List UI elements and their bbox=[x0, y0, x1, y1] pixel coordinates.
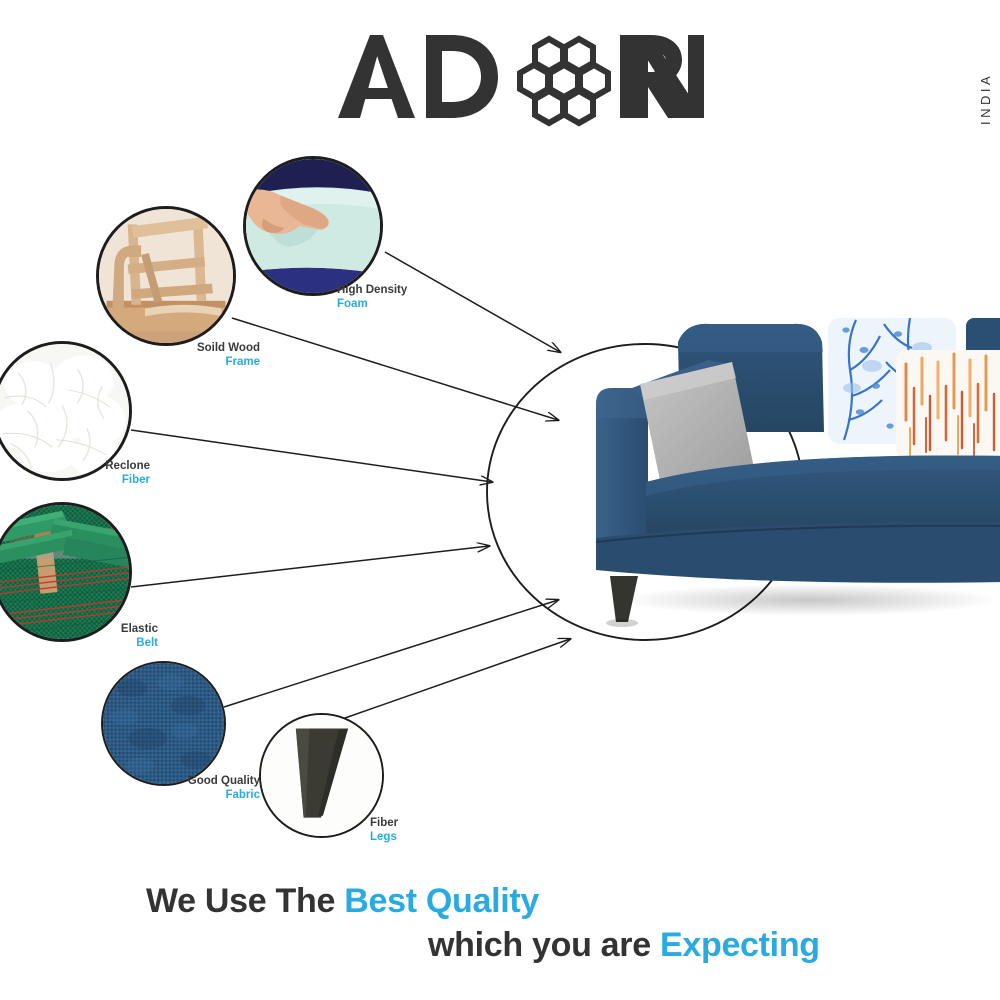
feature-label-line1: Good Quality bbox=[110, 774, 260, 788]
feature-label-line1: High Density bbox=[337, 283, 497, 297]
feature-label-solid-wood-frame: Soild Wood Frame bbox=[110, 341, 260, 369]
arrow-solid-wood-frame bbox=[232, 318, 558, 420]
feature-image-solid-wood-frame bbox=[96, 206, 236, 346]
tagline-line1-plain: We Use The bbox=[146, 882, 344, 920]
blue-fabric-swatch-photo bbox=[103, 663, 224, 784]
hand-pressing-foam-photo bbox=[246, 159, 380, 293]
tagline-line2-highlight: Expecting bbox=[660, 926, 820, 964]
feature-label-line1: Elastic bbox=[58, 622, 158, 636]
feature-label-line2: Belt bbox=[58, 636, 158, 650]
tagline-line1-highlight: Best Quality bbox=[344, 882, 539, 920]
feature-label-line2: Frame bbox=[110, 355, 260, 369]
feature-label-elastic-belt: Elastic Belt bbox=[58, 622, 158, 650]
tagline-line-2: which you are Expecting bbox=[428, 924, 820, 966]
arrow-good-quality-fabric bbox=[224, 600, 558, 707]
dark-tapered-sofa-leg-photo bbox=[261, 715, 382, 836]
tagline-line-1: We Use The Best Quality bbox=[146, 880, 539, 922]
arrow-fiber-legs bbox=[345, 639, 570, 718]
feature-image-fiber-legs bbox=[259, 713, 384, 838]
green-elastic-webbing-photo bbox=[0, 505, 129, 639]
feature-label-high-density-foam: High Density Foam bbox=[337, 283, 497, 311]
feature-label-good-quality-fabric: Good Quality Fabric bbox=[110, 774, 260, 802]
feature-label-reclone-fiber: Reclone Fiber bbox=[50, 459, 150, 487]
feature-image-good-quality-fabric bbox=[101, 661, 226, 786]
product-image-sofa bbox=[560, 300, 1000, 650]
navy-blue-sofa-photo bbox=[560, 300, 1000, 650]
feature-label-fiber-legs: Fiber Legs bbox=[370, 816, 470, 844]
tagline-line2-plain: which you are bbox=[428, 926, 660, 964]
feature-label-line2: Legs bbox=[370, 830, 470, 844]
feature-label-line2: Fiber bbox=[50, 473, 150, 487]
wooden-sofa-frame-photo bbox=[99, 209, 233, 343]
arrow-elastic-belt bbox=[131, 546, 489, 587]
feature-label-line2: Foam bbox=[337, 297, 497, 311]
infographic-canvas: INDIA ® bbox=[0, 0, 1000, 1000]
feature-label-line2: Fabric bbox=[110, 788, 260, 802]
arrow-reclone-fiber bbox=[131, 430, 492, 482]
feature-image-elastic-belt bbox=[0, 502, 132, 642]
feature-label-line1: Fiber bbox=[370, 816, 470, 830]
white-fiber-fill-photo bbox=[0, 344, 129, 478]
feature-label-line1: Reclone bbox=[50, 459, 150, 473]
orange-striped-pillow bbox=[896, 350, 1000, 460]
feature-image-high-density-foam bbox=[243, 156, 383, 296]
feature-label-line1: Soild Wood bbox=[110, 341, 260, 355]
